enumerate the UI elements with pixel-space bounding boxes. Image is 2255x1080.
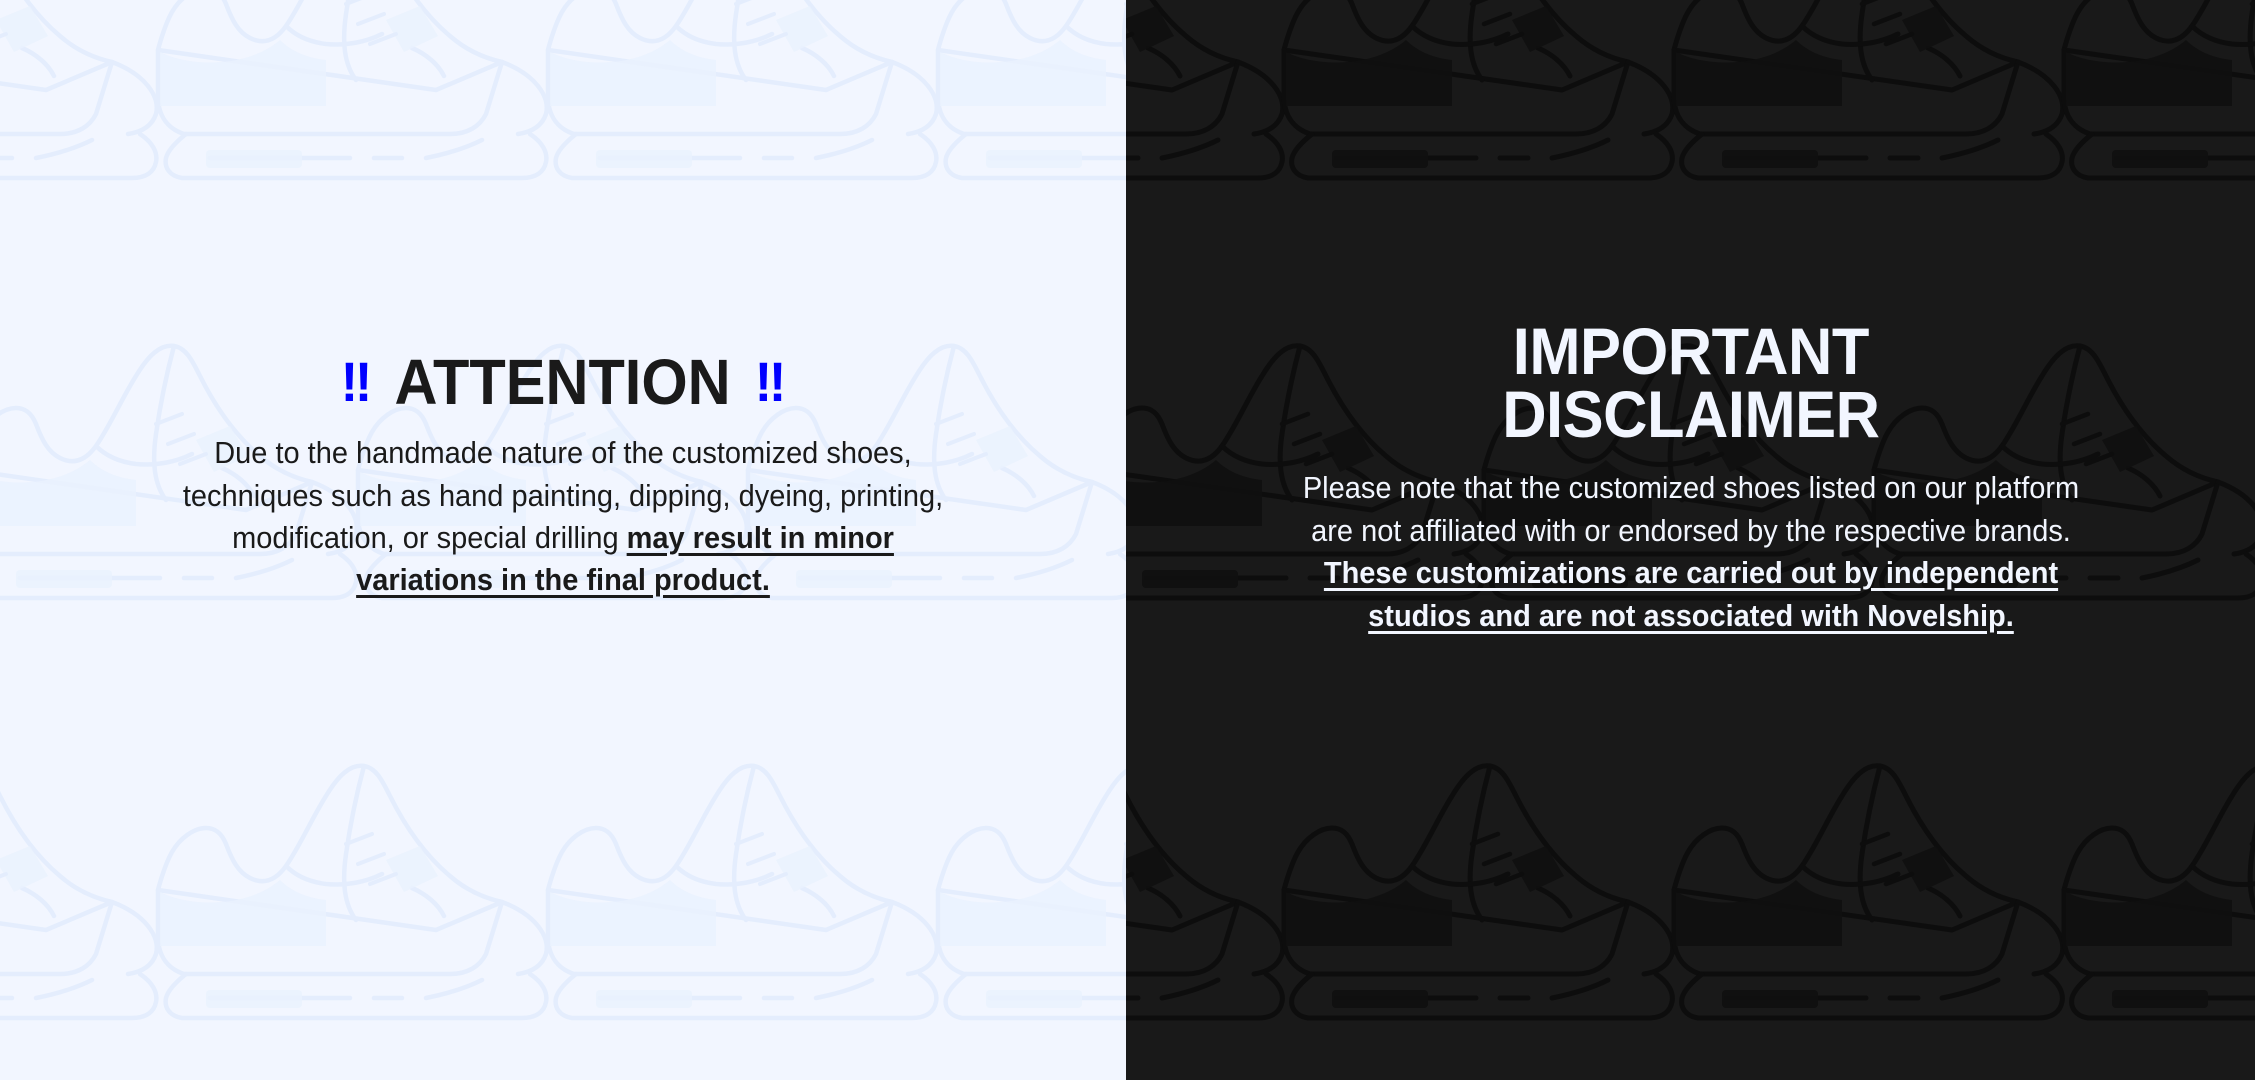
disclaimer-panel: IMPORTANT DISCLAIMER Please note that th… [1126, 0, 2255, 1080]
disclaimer-body-emphasis: These customizations are carried out by … [1323, 556, 2057, 632]
disclaimer-heading-line2: DISCLAIMER [1502, 383, 1879, 446]
disclaimer-heading-line1: IMPORTANT [1502, 320, 1879, 383]
disclaimer-heading: IMPORTANT DISCLAIMER [1502, 320, 1879, 445]
double-exclamation-left-icon: ‼ [341, 354, 371, 410]
attention-heading: ‼ ATTENTION ‼ [341, 352, 785, 412]
double-exclamation-right-icon: ‼ [755, 354, 785, 410]
disclaimer-banner: ‼ ATTENTION ‼ Due to the handmade nature… [0, 0, 2255, 1080]
attention-panel: ‼ ATTENTION ‼ Due to the handmade nature… [0, 0, 1126, 1080]
attention-body-text: Due to the handmade nature of the custom… [169, 432, 958, 602]
disclaimer-body-text: Please note that the customized shoes li… [1287, 467, 2095, 637]
disclaimer-content: IMPORTANT DISCLAIMER Please note that th… [1126, 0, 2255, 637]
attention-content: ‼ ATTENTION ‼ Due to the handmade nature… [0, 0, 1126, 602]
disclaimer-body-normal: Please note that the customized shoes li… [1302, 471, 2078, 547]
attention-heading-word: ATTENTION [395, 352, 731, 412]
